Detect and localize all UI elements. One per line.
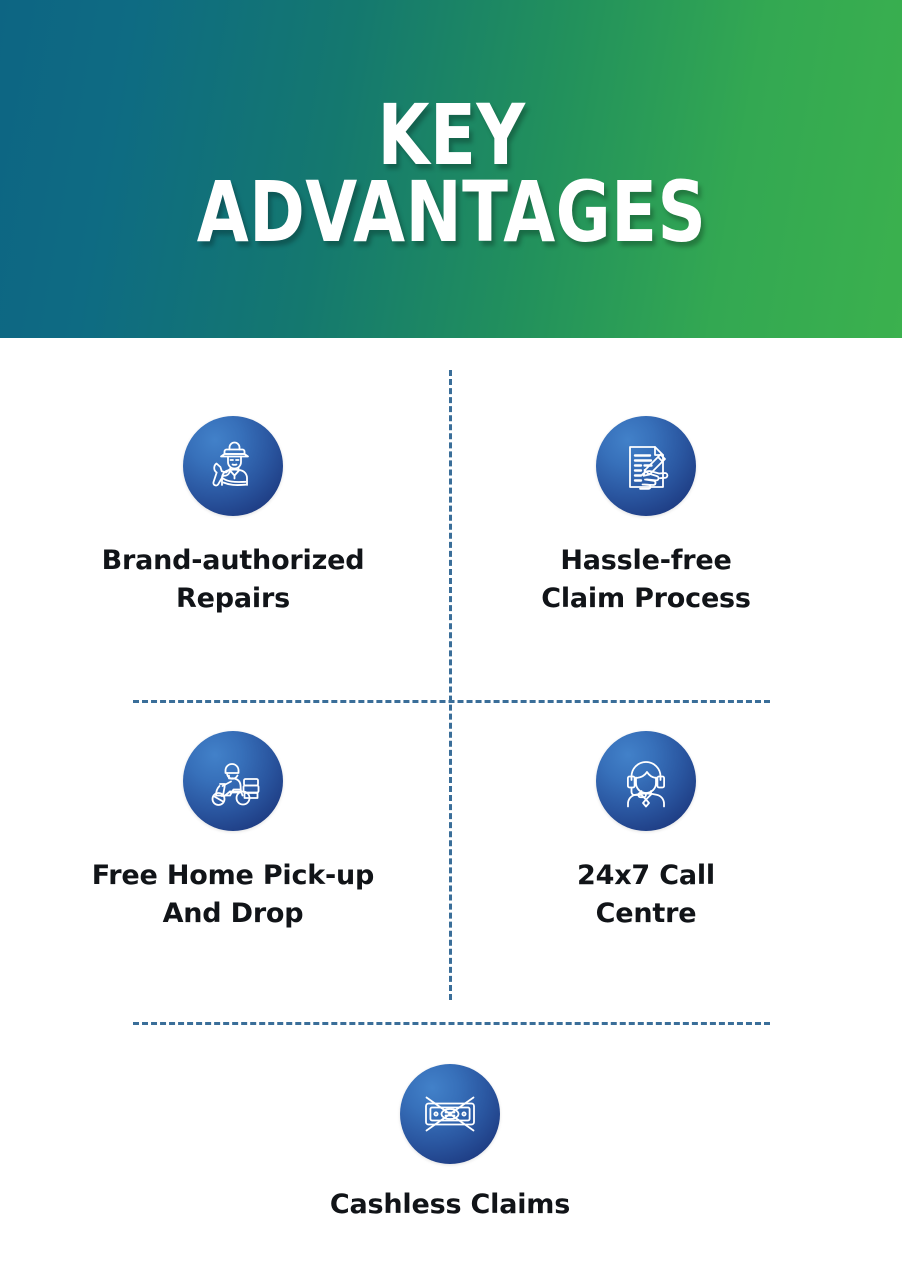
feature-label: Cashless Claims [330,1186,570,1224]
page-title: KEY ADVANTAGES [196,87,706,252]
feature-label: Free Home Pick-up And Drop [92,857,374,934]
delivery-scooter-icon [183,731,283,831]
feature-label: Hassle-free Claim Process [541,542,751,619]
feature-label: 24x7 Call Centre [577,857,715,934]
feature-item-cashless-claims[interactable]: Cashless Claims [250,1064,650,1224]
feature-item-free-home-pickup-and-drop[interactable]: Free Home Pick-up And Drop [33,731,433,934]
no-cash-banknote-icon [400,1064,500,1164]
document-pencil-writing-icon [596,416,696,516]
feature-label: Brand-authorized Repairs [102,542,365,619]
divider-horizontal-2 [133,1022,770,1025]
header-banner: KEY ADVANTAGES [0,0,902,338]
advantages-grid: Brand-authorized Repairs [0,338,902,1280]
feature-item-brand-authorized-repairs[interactable]: Brand-authorized Repairs [33,416,433,619]
mechanic-wrench-icon [183,416,283,516]
headset-support-agent-icon [596,731,696,831]
feature-item-hassle-free-claim-process[interactable]: Hassle-free Claim Process [446,416,846,619]
divider-horizontal-1 [133,700,770,703]
feature-item-24x7-call-centre[interactable]: 24x7 Call Centre [446,731,846,934]
